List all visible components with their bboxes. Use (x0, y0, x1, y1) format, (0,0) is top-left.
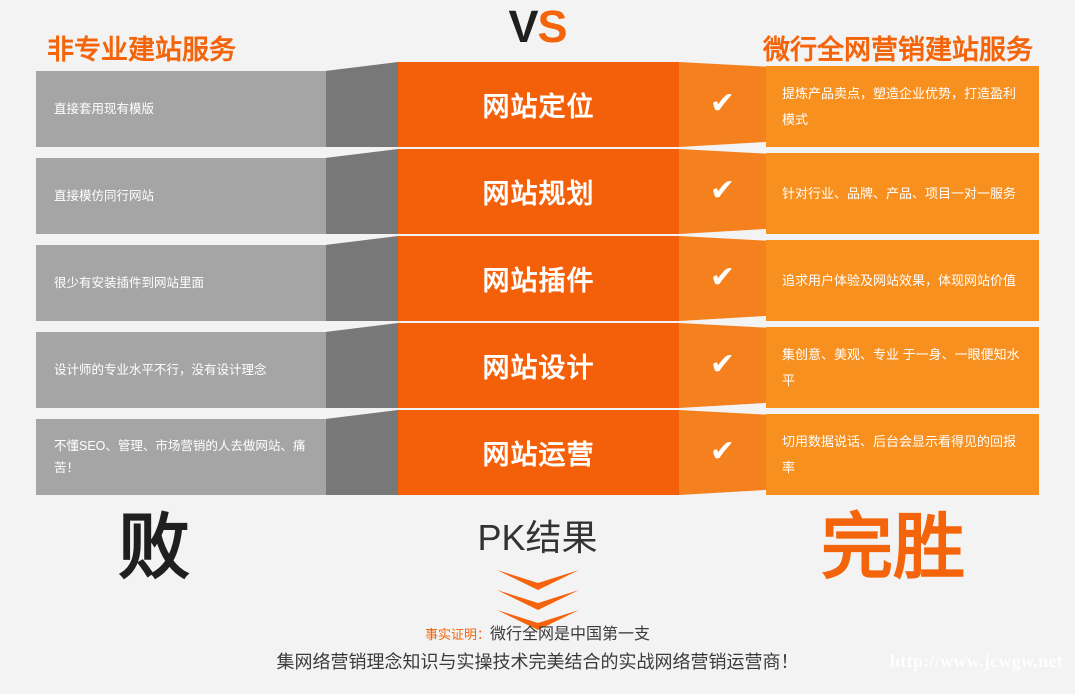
center-topic-block: 网站规划 (398, 149, 679, 234)
footer-line-one-text: 微行全网是中国第一支 (490, 626, 650, 643)
left-con-text: 直接模仿同行网站 (54, 185, 154, 207)
center-topic-text: 网站规划 (483, 172, 595, 211)
comparison-rows: 直接套用现有模版 网站定位 ✔ 提炼产品卖点，塑造企业优势，打造盈利模式 直接模… (0, 62, 1075, 499)
left-fold-shape (326, 62, 398, 147)
left-con-text: 直接套用现有模版 (54, 98, 154, 120)
center-topic-block: 网站设计 (398, 323, 679, 408)
checkmark-icon: ✔ (710, 437, 735, 467)
center-topic-block: 网站定位 (398, 62, 679, 147)
result-section: 败 PK结果 完胜 (0, 506, 1075, 616)
left-con-text: 不懂SEO、管理、市场营销的人去做网站、痛苦！ (54, 435, 312, 479)
left-con-bar: 很少有安装插件到网站里面 (36, 245, 326, 321)
right-pro-panel: 针对行业、品牌、产品、项目一对一服务 (766, 153, 1039, 234)
right-pro-panel: 提炼产品卖点，塑造企业优势，打造盈利模式 (766, 66, 1039, 147)
center-topic-text: 网站插件 (483, 259, 595, 298)
left-fold-shape (326, 323, 398, 408)
result-win-label: 完胜 (821, 512, 965, 584)
right-pro-text: 追求用户体验及网站效果，体现网站价值 (782, 268, 1016, 294)
comparison-row: 不懂SEO、管理、市场营销的人去做网站、痛苦！ 网站运营 ✔ 切用数据说话、后台… (0, 410, 1075, 498)
checkmark-icon: ✔ (710, 350, 735, 380)
left-con-text: 很少有安装插件到网站里面 (54, 272, 204, 294)
comparison-row: 直接模仿同行网站 网站规划 ✔ 针对行业、品牌、产品、项目一对一服务 (0, 149, 1075, 235)
footer-emphasis: 事实证明： (425, 627, 490, 642)
comparison-header: 非专业建站服务 VS 微行全网营销建站服务 (0, 0, 1075, 62)
vs-letter-v: V (508, 1, 537, 52)
left-con-bar: 直接套用现有模版 (36, 71, 326, 147)
left-con-text: 设计师的专业水平不行，没有设计理念 (54, 359, 267, 381)
left-con-bar: 设计师的专业水平不行，没有设计理念 (36, 332, 326, 408)
comparison-row: 很少有安装插件到网站里面 网站插件 ✔ 追求用户体验及网站效果，体现网站价值 (0, 236, 1075, 322)
checkmark-icon: ✔ (710, 89, 735, 119)
left-fold-shape (326, 236, 398, 321)
right-pro-text: 集创意、美观、专业 于一身、一眼便知水平 (782, 342, 1025, 394)
right-pro-panel: 追求用户体验及网站效果，体现网站价值 (766, 240, 1039, 321)
center-topic-text: 网站设计 (483, 346, 595, 385)
center-topic-text: 网站定位 (483, 85, 595, 124)
site-watermark: http://www.jcwgw.net (890, 651, 1063, 672)
left-con-bar: 直接模仿同行网站 (36, 158, 326, 234)
left-fold-shape (326, 410, 398, 495)
comparison-row: 设计师的专业水平不行，没有设计理念 网站设计 ✔ 集创意、美观、专业 于一身、一… (0, 323, 1075, 409)
check-fold-shape: ✔ (679, 149, 766, 234)
check-fold-shape: ✔ (679, 236, 766, 321)
right-pro-panel: 切用数据说话、后台会显示看得见的回报率 (766, 414, 1039, 495)
right-pro-text: 针对行业、品牌、产品、项目一对一服务 (782, 181, 1016, 207)
check-fold-shape: ✔ (679, 62, 766, 147)
vs-letter-s: S (538, 1, 567, 52)
right-pro-text: 提炼产品卖点，塑造企业优势，打造盈利模式 (782, 81, 1025, 133)
checkmark-icon: ✔ (710, 263, 735, 293)
left-con-bar: 不懂SEO、管理、市场营销的人去做网站、痛苦！ (36, 419, 326, 495)
check-fold-shape: ✔ (679, 410, 766, 495)
right-pro-text: 切用数据说话、后台会显示看得见的回报率 (782, 429, 1025, 481)
right-pro-panel: 集创意、美观、专业 于一身、一眼便知水平 (766, 327, 1039, 408)
left-fold-shape (326, 149, 398, 234)
check-fold-shape: ✔ (679, 323, 766, 408)
checkmark-icon: ✔ (710, 176, 735, 206)
center-topic-block: 网站运营 (398, 410, 679, 495)
footer-line-one: 事实证明：微行全网是中国第一支 (0, 622, 1075, 648)
comparison-row: 直接套用现有模版 网站定位 ✔ 提炼产品卖点，塑造企业优势，打造盈利模式 (0, 62, 1075, 148)
center-topic-text: 网站运营 (483, 433, 595, 472)
center-topic-block: 网站插件 (398, 236, 679, 321)
